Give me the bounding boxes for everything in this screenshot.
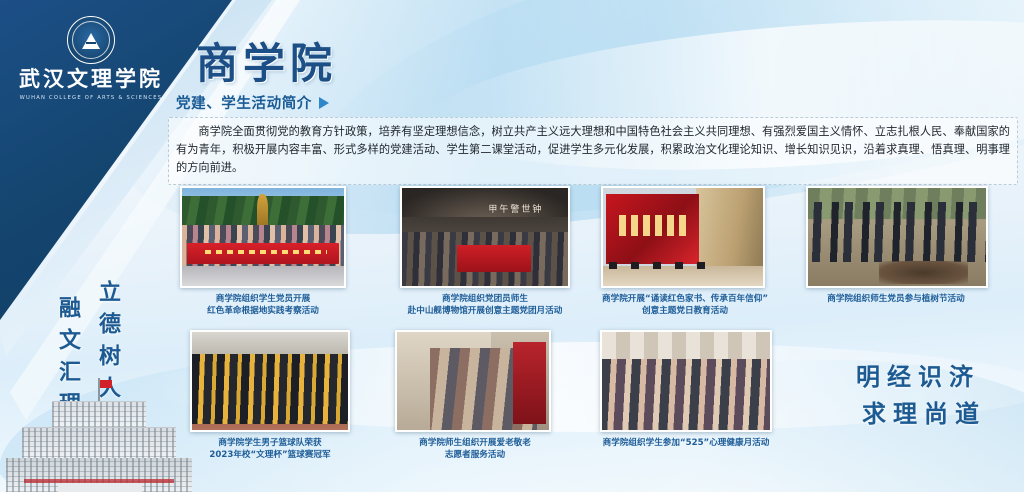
caption-line-2: 赴中山舰博物馆开展创意主题党团月活动 xyxy=(400,305,570,317)
caption-line-1: 商学院组织学生参加“525”心理健康月活动 xyxy=(600,437,772,449)
section-title-label: 党建、学生活动简介 xyxy=(176,92,312,113)
gallery-item[interactable]: 商学院组织学生参加“525”心理健康月活动 xyxy=(600,330,772,449)
photo-content xyxy=(397,332,549,430)
gallery-item[interactable]: 甲午警世钟 商学院组织党团员师生 赴中山舰博物馆开展创意主题党团月活动 xyxy=(400,186,570,318)
photo-caption: 商学院师生组织开展爱老敬老 志愿者服务活动 xyxy=(395,437,555,462)
photo-zhongshan-warship-museum[interactable]: 甲午警世钟 xyxy=(400,186,570,288)
photo-mens-basketball-champions[interactable] xyxy=(190,330,350,432)
gallery-item[interactable]: 商学院组织师生党员参与植树节活动 xyxy=(806,186,986,305)
calligraphy-left-inner: 立德树人 xyxy=(92,280,124,408)
photo-caption: 商学院组织党团员师生 赴中山舰博物馆开展创意主题党团月活动 xyxy=(400,293,570,318)
photo-content xyxy=(182,188,344,286)
photo-red-revolution-base-visit[interactable] xyxy=(180,186,346,288)
triangle-right-icon xyxy=(319,97,329,109)
photo-caption: 商学院组织学生参加“525”心理健康月活动 xyxy=(600,437,772,449)
section-header: 党建、学生活动简介 xyxy=(176,92,329,113)
gallery-item[interactable]: 商学院师生组织开展爱老敬老 志愿者服务活动 xyxy=(395,330,555,462)
photo-525-mental-health-month[interactable] xyxy=(600,330,772,432)
college-logo: 武汉文理学院 WUHAN COLLEGE OF ARTS & SCIENCES xyxy=(16,16,166,101)
caption-line-1: 商学院组织师生党员参与植树节活动 xyxy=(806,293,986,305)
caption-line-2: 创意主题党日教育活动 xyxy=(601,305,769,317)
caption-line-1: 商学院师生组织开展爱老敬老 xyxy=(395,437,555,449)
photo-content: 甲午警世钟 xyxy=(402,188,568,286)
gallery-item[interactable]: 商学院组织学生党员开展 红色革命根据地实践考察活动 xyxy=(180,186,346,318)
photo-content xyxy=(603,188,763,286)
intro-paragraph: 商学院全面贯彻党的教育方针政策，培养有坚定理想信念，树立共产主义远大理想和中国特… xyxy=(168,117,1018,185)
caption-line-2: 志愿者服务活动 xyxy=(395,449,555,461)
calligraphy-right-line-2: 求理尚道 xyxy=(828,395,986,432)
museum-hall-text: 甲午警世钟 xyxy=(488,202,543,215)
photo-red-family-letters-recital[interactable] xyxy=(601,186,765,288)
photo-content xyxy=(192,332,348,430)
calligraphy-right: 明经识济 求理尚道 xyxy=(828,358,980,432)
college-name-en: WUHAN COLLEGE OF ARTS & SCIENCES xyxy=(16,95,166,101)
gallery-item[interactable]: 商学院开展“诵读红色家书、传承百年信仰” 创意主题党日教育活动 xyxy=(601,186,769,318)
calligraphy-right-line-1: 明经识济 xyxy=(856,362,980,391)
caption-line-2: 红色革命根据地实践考察活动 xyxy=(180,305,346,317)
caption-line-2: 2023年校“文理杯”篮球赛冠军 xyxy=(190,449,350,461)
crest-mountain-mark-icon xyxy=(82,33,100,49)
photo-content xyxy=(808,188,986,286)
college-crest-icon xyxy=(67,16,115,64)
photo-caption: 商学院开展“诵读红色家书、传承百年信仰” 创意主题党日教育活动 xyxy=(601,293,769,318)
photo-caption: 商学院组织学生党员开展 红色革命根据地实践考察活动 xyxy=(180,293,346,318)
caption-line-1: 商学院开展“诵读红色家书、传承百年信仰” xyxy=(601,293,769,305)
gallery-item[interactable]: 商学院学生男子篮球队荣获 2023年校“文理杯”篮球赛冠军 xyxy=(190,330,350,462)
poster-canvas: 武汉文理学院 WUHAN COLLEGE OF ARTS & SCIENCES … xyxy=(0,0,1024,492)
photo-caption: 商学院组织师生党员参与植树节活动 xyxy=(806,293,986,305)
college-name-cn: 武汉文理学院 xyxy=(16,68,166,90)
photo-elderly-care-volunteer-service[interactable] xyxy=(395,330,551,432)
photo-arbor-day-tree-planting[interactable] xyxy=(806,186,988,288)
page-title: 商学院 xyxy=(196,30,337,91)
photo-caption: 商学院学生男子篮球队荣获 2023年校“文理杯”篮球赛冠军 xyxy=(190,437,350,462)
photo-content xyxy=(602,332,770,430)
national-flag-icon xyxy=(99,380,112,388)
caption-line-1: 商学院组织党团员师生 xyxy=(400,293,570,305)
caption-line-1: 商学院学生男子篮球队荣获 xyxy=(190,437,350,449)
caption-line-1: 商学院组织学生党员开展 xyxy=(180,293,346,305)
